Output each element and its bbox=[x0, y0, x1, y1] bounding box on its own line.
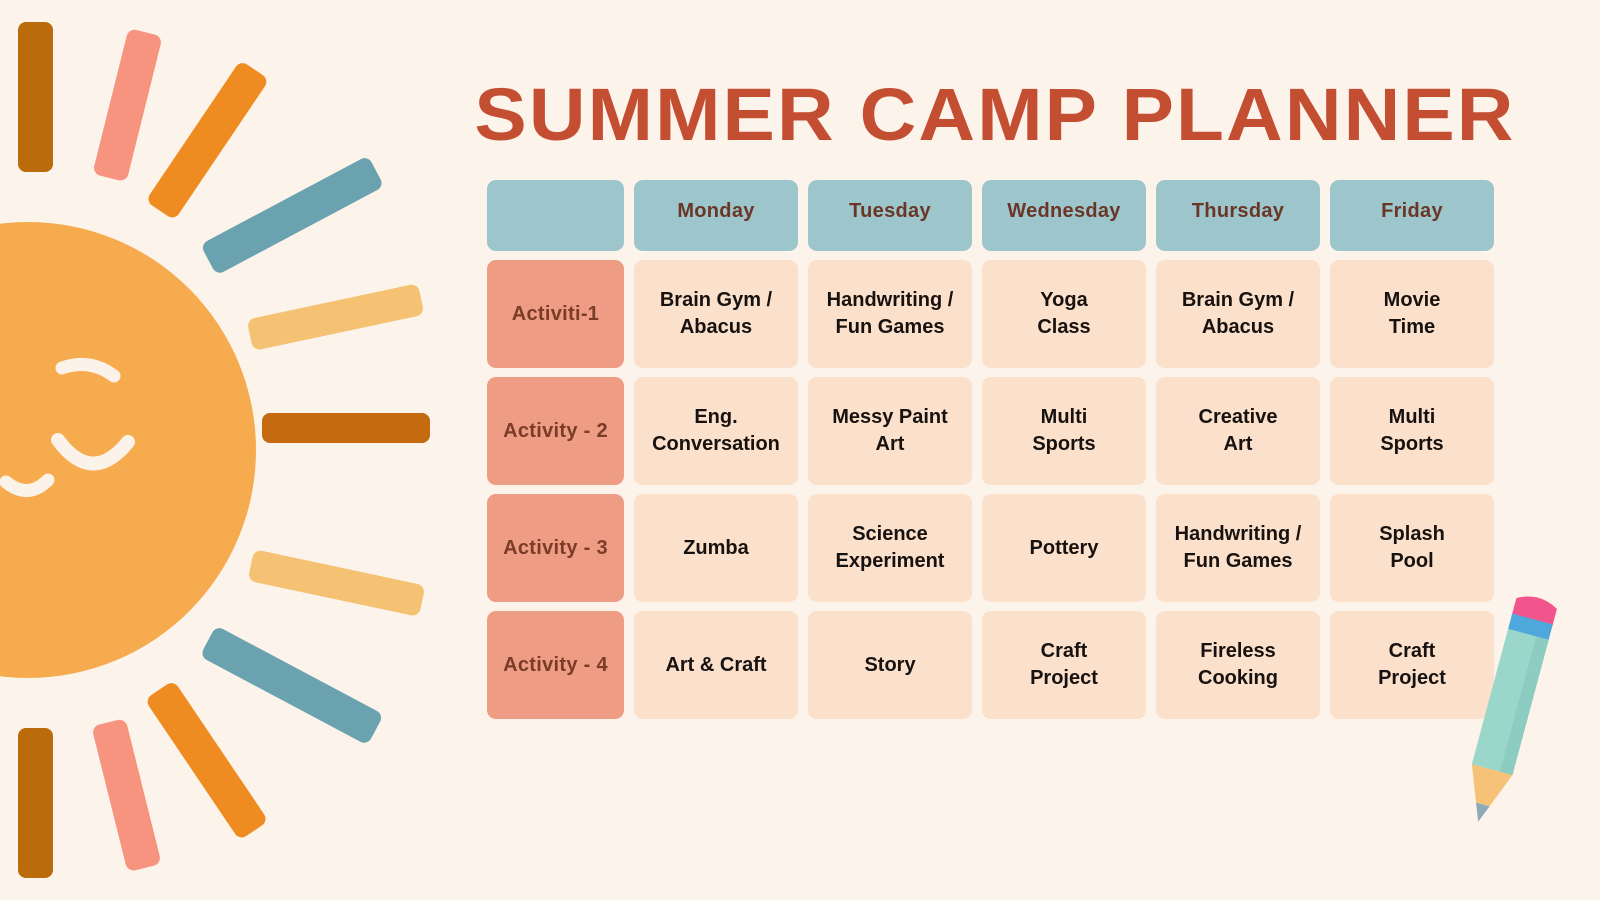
row-label-activity-4[interactable]: Activity - 4 bbox=[487, 611, 624, 719]
header-monday[interactable]: Monday bbox=[634, 180, 798, 251]
sun-eye-icon bbox=[62, 364, 114, 376]
sun-ray bbox=[92, 28, 162, 182]
sun-illustration bbox=[0, 0, 470, 900]
header-friday[interactable]: Friday bbox=[1330, 180, 1494, 251]
activity-cell[interactable]: CraftProject bbox=[982, 611, 1146, 719]
activity-cell[interactable]: MultiSports bbox=[982, 377, 1146, 485]
sun-ray bbox=[200, 155, 384, 275]
sun-smile-icon bbox=[58, 440, 128, 464]
activity-cell[interactable]: FirelessCooking bbox=[1156, 611, 1320, 719]
activity-cell[interactable]: CraftProject bbox=[1330, 611, 1494, 719]
activity-cell[interactable]: Handwriting /Fun Games bbox=[1156, 494, 1320, 602]
activity-cell[interactable]: SplashPool bbox=[1330, 494, 1494, 602]
page-title: SUMMER CAMP PLANNER bbox=[465, 78, 1525, 152]
pencil-ferrule bbox=[1508, 614, 1553, 640]
header-thursday[interactable]: Thursday bbox=[1156, 180, 1320, 251]
sun-ray bbox=[247, 283, 425, 351]
table-row: Activity - 2 Eng.Conversation Messy Pain… bbox=[487, 377, 1480, 485]
activity-cell[interactable]: Eng.Conversation bbox=[634, 377, 798, 485]
sun-cheek-icon bbox=[6, 480, 48, 491]
activity-cell[interactable]: CreativeArt bbox=[1156, 377, 1320, 485]
sun-ray bbox=[18, 22, 53, 172]
sun-ray bbox=[145, 60, 269, 221]
header-corner-cell bbox=[487, 180, 624, 251]
activity-cell[interactable]: Handwriting /Fun Games bbox=[808, 260, 972, 368]
row-label-activity-2[interactable]: Activity - 2 bbox=[487, 377, 624, 485]
sun-body bbox=[0, 222, 256, 678]
sun-ray bbox=[262, 413, 430, 443]
pencil-tip bbox=[1471, 803, 1489, 824]
activity-cell[interactable]: YogaClass bbox=[982, 260, 1146, 368]
activity-cell[interactable]: ScienceExperiment bbox=[808, 494, 972, 602]
sun-ray bbox=[91, 718, 161, 872]
pencil-wood bbox=[1463, 764, 1513, 810]
sun-ray bbox=[248, 549, 426, 617]
pencil-eraser bbox=[1512, 592, 1559, 626]
activity-cell[interactable]: Pottery bbox=[982, 494, 1146, 602]
planner-table: Monday Tuesday Wednesday Thursday Friday… bbox=[487, 180, 1480, 719]
activity-cell[interactable]: Zumba bbox=[634, 494, 798, 602]
activity-cell[interactable]: MovieTime bbox=[1330, 260, 1494, 368]
activity-cell[interactable]: MultiSports bbox=[1330, 377, 1494, 485]
activity-cell[interactable]: Art & Craft bbox=[634, 611, 798, 719]
pencil-body-shade bbox=[1500, 636, 1549, 775]
row-label-activity-1[interactable]: Activiti-1 bbox=[487, 260, 624, 368]
sun-ray bbox=[145, 680, 269, 841]
activity-cell[interactable]: Brain Gym /Abacus bbox=[1156, 260, 1320, 368]
header-tuesday[interactable]: Tuesday bbox=[808, 180, 972, 251]
activity-cell[interactable]: Brain Gym /Abacus bbox=[634, 260, 798, 368]
table-row: Activity - 4 Art & Craft Story CraftProj… bbox=[487, 611, 1480, 719]
row-label-activity-3[interactable]: Activity - 3 bbox=[487, 494, 624, 602]
table-header-row: Monday Tuesday Wednesday Thursday Friday bbox=[487, 180, 1480, 251]
activity-cell[interactable]: Story bbox=[808, 611, 972, 719]
table-row: Activity - 3 Zumba ScienceExperiment Pot… bbox=[487, 494, 1480, 602]
sun-ray bbox=[18, 728, 53, 878]
header-wednesday[interactable]: Wednesday bbox=[982, 180, 1146, 251]
activity-cell[interactable]: Messy PaintArt bbox=[808, 377, 972, 485]
table-row: Activiti-1 Brain Gym /Abacus Handwriting… bbox=[487, 260, 1480, 368]
sun-ray bbox=[200, 625, 384, 745]
